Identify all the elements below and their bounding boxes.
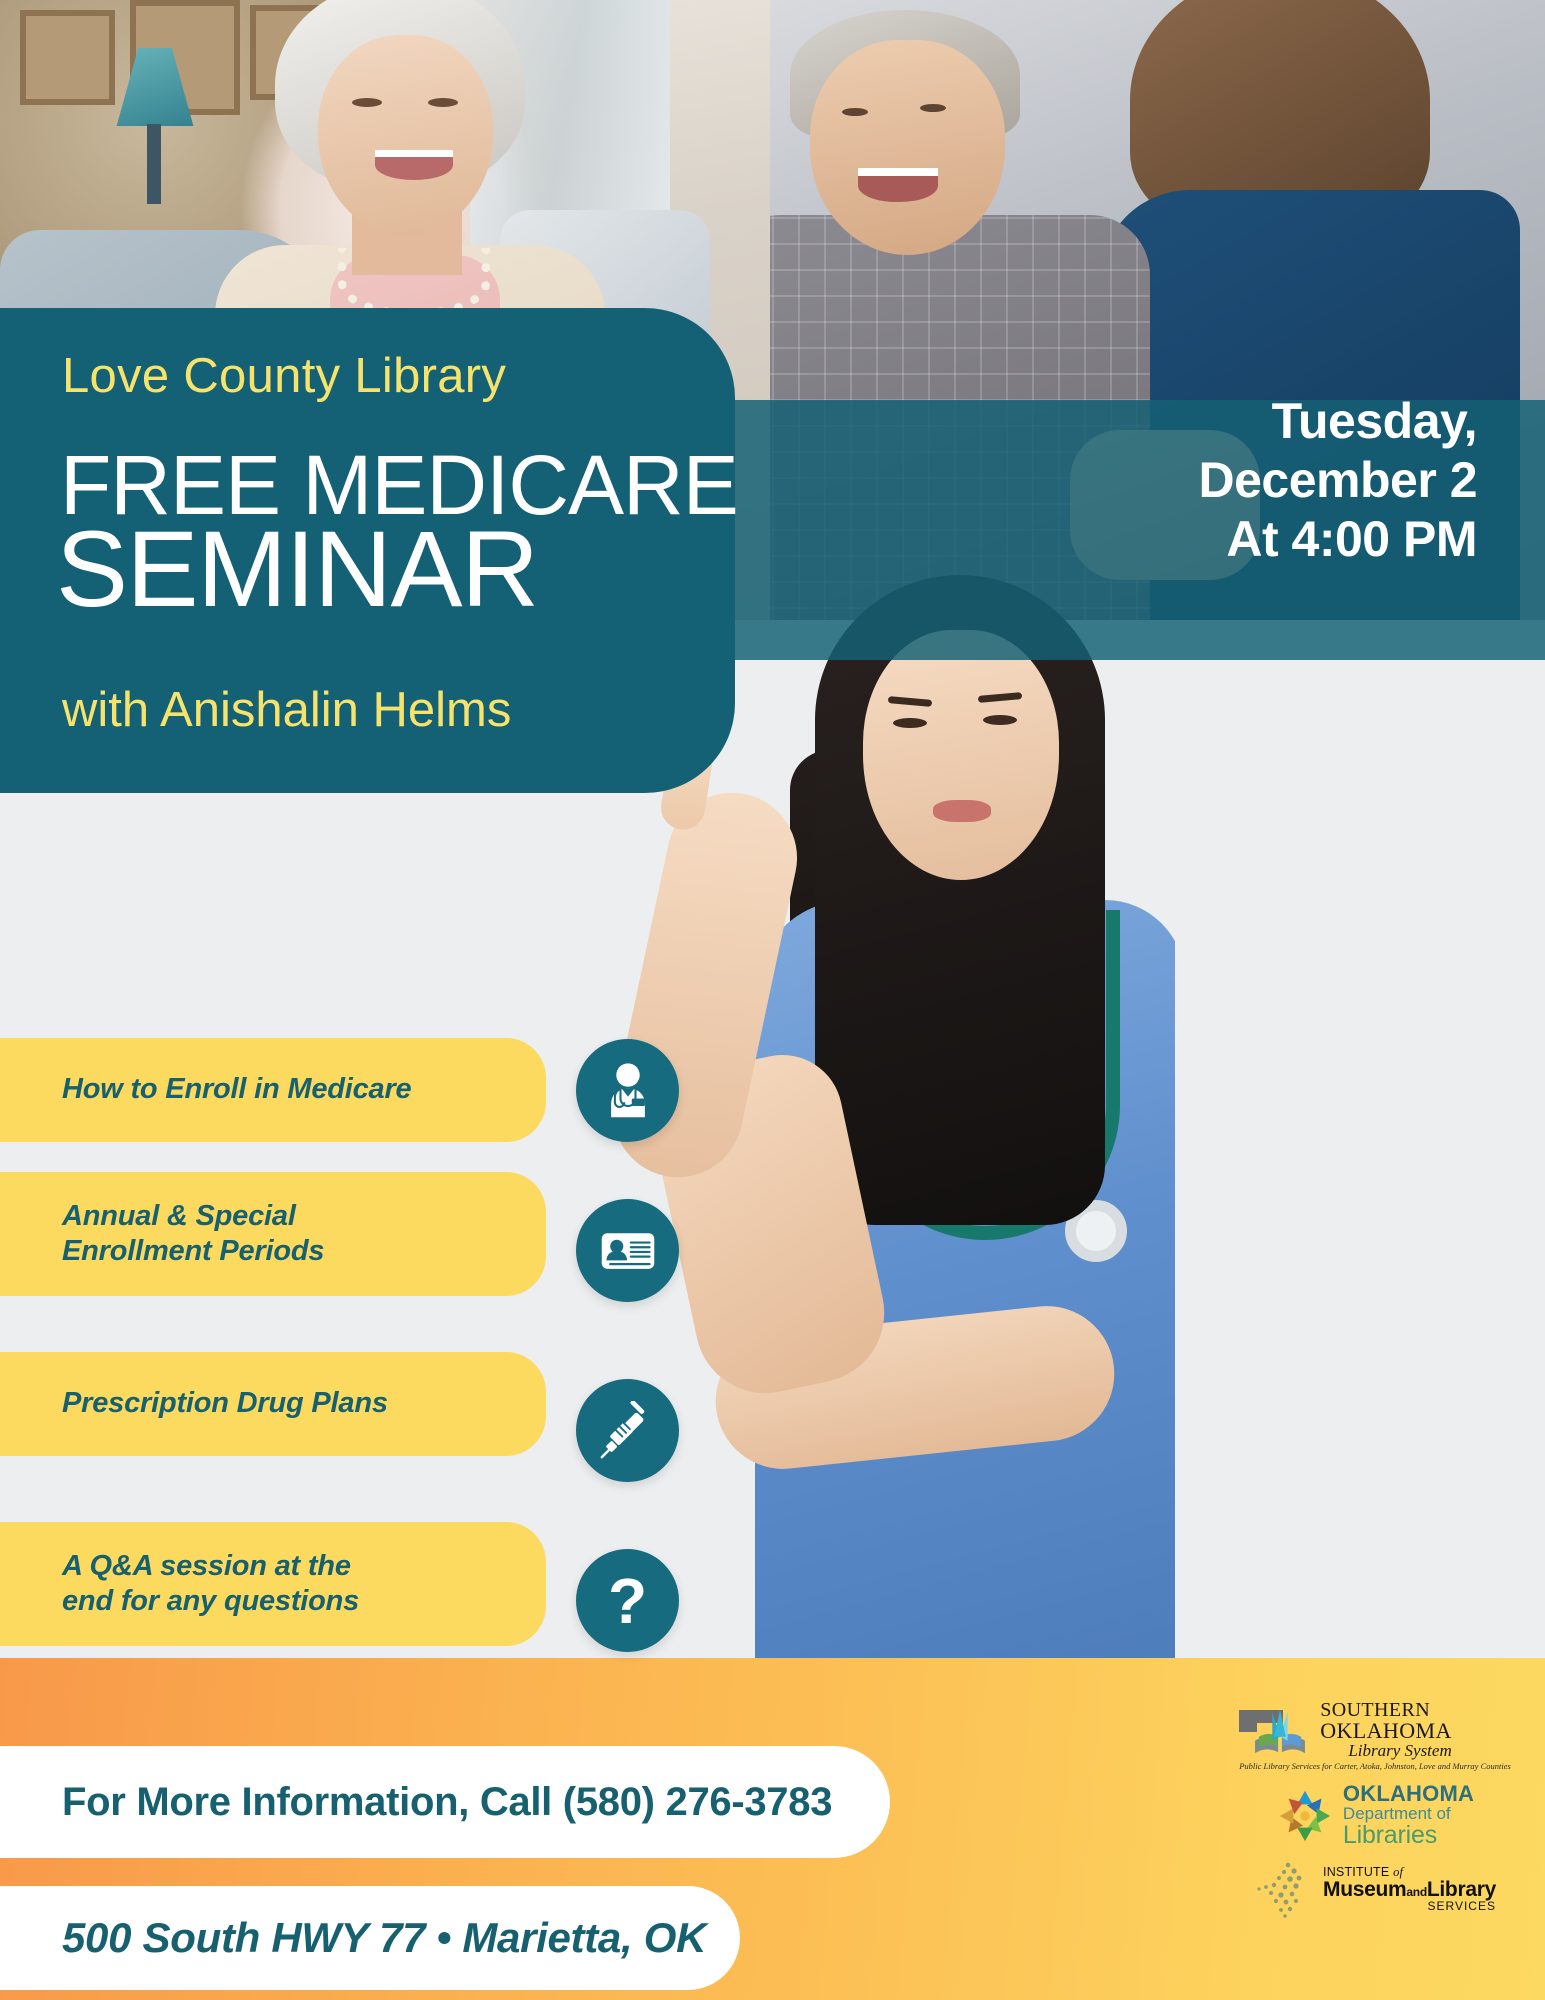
topic-list: How to Enroll in Medicare Annual & Speci… bbox=[0, 1038, 546, 1676]
id-card-icon bbox=[576, 1199, 679, 1302]
page-title-line2: SEMINAR bbox=[56, 516, 538, 622]
odl-line1: OKLAHOMA bbox=[1343, 1783, 1474, 1805]
nurse-eye bbox=[893, 718, 927, 728]
man-eye bbox=[920, 104, 946, 112]
topic-item: Annual & Special Enrollment Periods bbox=[0, 1172, 546, 1296]
imls-logo: INSTITUTE of MuseumandLibrary SERVICES bbox=[1254, 1860, 1496, 1918]
woman-eye bbox=[352, 98, 382, 107]
event-time: At 4:00 PM bbox=[1199, 510, 1478, 569]
library-name: Love County Library bbox=[62, 348, 506, 404]
sols-line3: Library System bbox=[1320, 1742, 1452, 1759]
question-mark-icon: ? bbox=[576, 1549, 679, 1652]
topic-item: Prescription Drug Plans bbox=[0, 1352, 546, 1456]
topic-item: A Q&A session at the end for any questio… bbox=[0, 1522, 546, 1646]
open-book-icon bbox=[1239, 1702, 1311, 1758]
topic-label: Annual & Special Enrollment Periods bbox=[0, 1199, 324, 1270]
sponsor-logos: SOUTHERN OKLAHOMA Library System Public … bbox=[1225, 1700, 1525, 1918]
nurse-face bbox=[863, 630, 1059, 880]
address-text: 500 South HWY 77 • Marietta, OK bbox=[0, 1914, 706, 1962]
odl-logo: OKLAHOMA Department of Libraries bbox=[1276, 1783, 1474, 1848]
imls-line3: SERVICES bbox=[1323, 1900, 1496, 1912]
woman-face bbox=[318, 35, 493, 235]
address-banner: 500 South HWY 77 • Marietta, OK bbox=[0, 1886, 740, 1990]
man-eye bbox=[842, 108, 868, 116]
wall-frame-icon bbox=[20, 10, 115, 105]
topic-label: How to Enroll in Medicare bbox=[0, 1072, 412, 1107]
doctor-icon bbox=[576, 1039, 679, 1142]
event-date: December 2 bbox=[1199, 451, 1478, 510]
contact-text: For More Information, Call (580) 276-378… bbox=[0, 1780, 832, 1825]
star-burst-icon bbox=[1276, 1787, 1334, 1845]
medicare-seminar-flyer: Love County Library FREE MEDICARE SEMINA… bbox=[0, 0, 1545, 2000]
presenter-name: with Anishalin Helms bbox=[62, 682, 511, 738]
sols-line2: OKLAHOMA bbox=[1320, 1720, 1452, 1742]
topic-label: Prescription Drug Plans bbox=[0, 1386, 388, 1421]
sols-tagline: Public Library Services for Carter, Atok… bbox=[1239, 1761, 1511, 1771]
sols-logo: SOUTHERN OKLAHOMA Library System Public … bbox=[1239, 1700, 1511, 1771]
odl-line3: Libraries bbox=[1343, 1823, 1474, 1849]
imls-dots-icon bbox=[1254, 1860, 1314, 1918]
topic-item: How to Enroll in Medicare bbox=[0, 1038, 546, 1142]
woman-eye bbox=[428, 98, 458, 107]
question-glyph: ? bbox=[608, 1569, 647, 1633]
nurse-eye bbox=[983, 715, 1017, 725]
lamp-stand-icon bbox=[147, 124, 161, 204]
event-day: Tuesday, bbox=[1199, 392, 1478, 451]
woman-smile bbox=[375, 150, 453, 180]
event-datetime: Tuesday, December 2 At 4:00 PM bbox=[1199, 392, 1478, 569]
man-face bbox=[810, 40, 1005, 255]
sols-line1: SOUTHERN bbox=[1320, 1700, 1452, 1720]
contact-banner: For More Information, Call (580) 276-378… bbox=[0, 1746, 890, 1858]
topic-label: A Q&A session at the end for any questio… bbox=[0, 1549, 359, 1620]
syringe-icon bbox=[576, 1379, 679, 1482]
nurse-lips bbox=[933, 800, 991, 822]
imls-line2: MuseumandLibrary bbox=[1323, 1879, 1496, 1900]
man-smile bbox=[858, 168, 938, 202]
